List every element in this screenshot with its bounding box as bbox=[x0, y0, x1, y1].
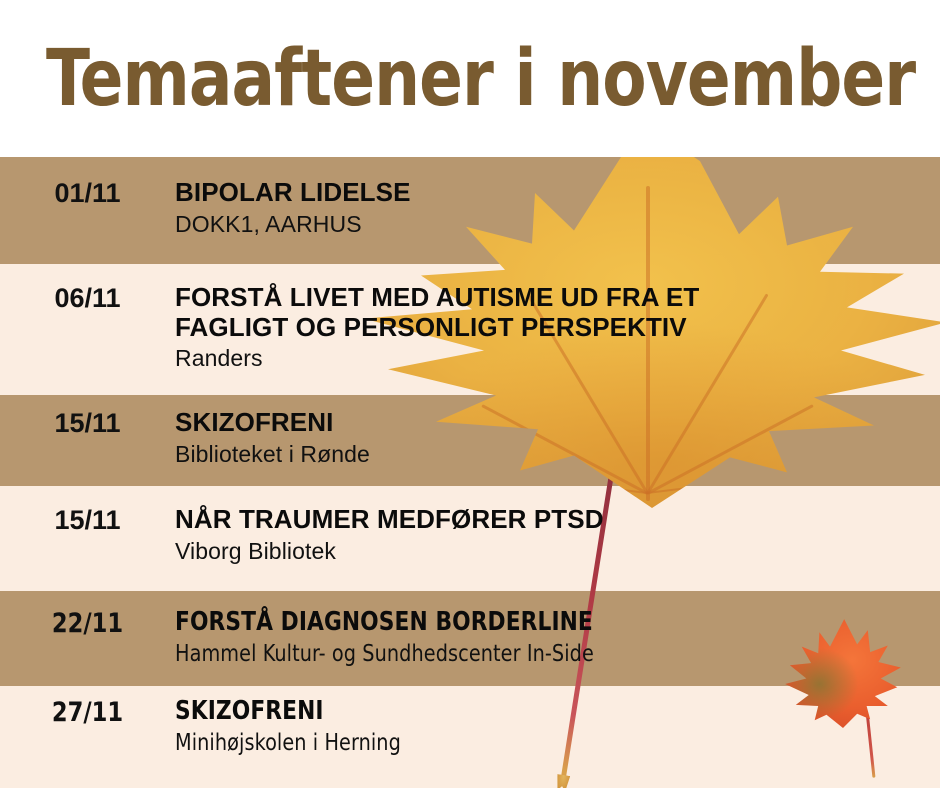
event-details: SKIZOFRENI Minihøjskolen i Herning bbox=[175, 697, 940, 757]
event-title-line-2: FAGLIGT OG PERSONLIGT PERSPEKTIV bbox=[175, 313, 920, 343]
event-venue: Hammel Kultur- og Sundhedscenter In-Side bbox=[175, 641, 868, 669]
event-date: 06/11 bbox=[0, 283, 175, 314]
event-details: SKIZOFRENI Biblioteket i Rønde bbox=[175, 408, 940, 468]
event-venue: Randers bbox=[175, 345, 920, 373]
event-title: FORSTÅ DIAGNOSEN BORDERLINE bbox=[175, 608, 868, 638]
event-row-3[interactable]: 15/11 SKIZOFRENI Biblioteket i Rønde bbox=[0, 408, 940, 468]
event-date: 01/11 bbox=[0, 178, 175, 209]
event-date: 15/11 bbox=[0, 408, 175, 439]
event-row-6[interactable]: 27/11 SKIZOFRENI Minihøjskolen i Herning bbox=[0, 697, 940, 757]
event-details: FORSTÅ LIVET MED AUTISME UD FRA ET FAGLI… bbox=[175, 283, 940, 373]
event-details: FORSTÅ DIAGNOSEN BORDERLINE Hammel Kultu… bbox=[175, 608, 940, 668]
event-date: 15/11 bbox=[0, 505, 175, 536]
event-details: NÅR TRAUMER MEDFØRER PTSD Viborg Bibliot… bbox=[175, 505, 940, 565]
event-title: SKIZOFRENI bbox=[175, 408, 920, 438]
page-title: Temaaftener i november bbox=[46, 40, 915, 118]
event-date: 27/11 bbox=[6, 697, 169, 728]
event-venue: Viborg Bibliotek bbox=[175, 538, 920, 566]
event-details: BIPOLAR LIDELSE DOKK1, AARHUS bbox=[175, 178, 940, 238]
event-row-1[interactable]: 01/11 BIPOLAR LIDELSE DOKK1, AARHUS bbox=[0, 178, 940, 238]
poster-canvas: Temaaftener i november 01/11 BIPOLAR LID… bbox=[0, 0, 940, 788]
event-venue: Minihøjskolen i Herning bbox=[175, 730, 868, 758]
event-title: SKIZOFRENI bbox=[175, 697, 868, 727]
event-title: NÅR TRAUMER MEDFØRER PTSD bbox=[175, 505, 920, 535]
event-row-2[interactable]: 06/11 FORSTÅ LIVET MED AUTISME UD FRA ET… bbox=[0, 283, 940, 373]
event-row-5[interactable]: 22/11 FORSTÅ DIAGNOSEN BORDERLINE Hammel… bbox=[0, 608, 940, 668]
poster-header: Temaaftener i november bbox=[0, 0, 940, 157]
event-venue: Biblioteket i Rønde bbox=[175, 441, 920, 469]
event-row-4[interactable]: 15/11 NÅR TRAUMER MEDFØRER PTSD Viborg B… bbox=[0, 505, 940, 565]
event-date: 22/11 bbox=[6, 608, 169, 639]
event-title: BIPOLAR LIDELSE bbox=[175, 178, 920, 208]
event-title-line-1: FORSTÅ LIVET MED AUTISME UD FRA ET bbox=[175, 283, 920, 313]
event-venue: DOKK1, AARHUS bbox=[175, 211, 920, 239]
